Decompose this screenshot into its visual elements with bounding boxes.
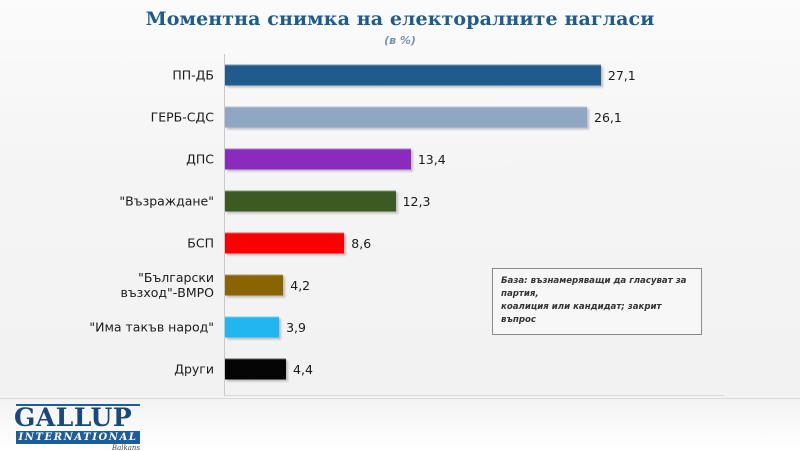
bar-fill bbox=[225, 275, 283, 296]
plot-area: ПП-ДБ27,1ГЕРБ-СДС26,1ДПС13,4"Възраждане"… bbox=[0, 52, 800, 397]
chart-subtitle: (в %) bbox=[0, 34, 800, 47]
bar-row: ГЕРБ-СДС26,1 bbox=[0, 96, 800, 138]
footer-divider bbox=[0, 398, 800, 399]
chart-canvas: Моментна снимка на електоралните нагласи… bbox=[0, 0, 800, 451]
bar-value-label: 12,3 bbox=[403, 194, 431, 209]
bar-category-label: "Има такъв народ" bbox=[34, 320, 214, 335]
bar-category-label: Други bbox=[34, 362, 214, 377]
bar-row: БСП8,6 bbox=[0, 222, 800, 264]
bar-value-label: 4,4 bbox=[293, 362, 313, 377]
logo-international-text: INTERNATIONAL bbox=[16, 431, 140, 444]
bar-row: "Възраждане"12,3 bbox=[0, 180, 800, 222]
bar-category-label: "Български възход"-ВМРО bbox=[34, 270, 214, 300]
base-note-box: База: възнамеряващи да гласуват за парти… bbox=[492, 268, 702, 335]
base-note-line-1: База: възнамеряващи да гласуват за парти… bbox=[501, 275, 693, 301]
bar-row: ПП-ДБ27,1 bbox=[0, 54, 800, 96]
bar-fill bbox=[225, 233, 344, 254]
bar-category-label: ДПС bbox=[34, 152, 214, 167]
bar[interactable]: 27,1 bbox=[225, 65, 601, 86]
logo-region-text: Balkans bbox=[14, 444, 140, 451]
bar-row: ДПС13,4 bbox=[0, 138, 800, 180]
bar-value-label: 8,6 bbox=[351, 236, 371, 251]
value-axis-baseline bbox=[224, 395, 724, 396]
bar-category-label: "Възраждане" bbox=[34, 194, 214, 209]
bar[interactable]: 8,6 bbox=[225, 233, 344, 254]
bar-value-label: 13,4 bbox=[418, 152, 446, 167]
bar[interactable]: 3,9 bbox=[225, 317, 279, 338]
logo-international-bar: INTERNATIONAL bbox=[16, 431, 140, 444]
page-title: Моментна снимка на електоралните нагласи bbox=[0, 8, 800, 30]
logo-wordmark: GALLUP bbox=[14, 404, 132, 432]
bar-fill bbox=[225, 191, 396, 212]
bar-category-label: БСП bbox=[34, 236, 214, 251]
bar-value-label: 26,1 bbox=[594, 110, 622, 125]
bar-fill bbox=[225, 317, 279, 338]
bar-fill bbox=[225, 65, 601, 86]
bar-category-label: ГЕРБ-СДС bbox=[34, 110, 214, 125]
bar[interactable]: 13,4 bbox=[225, 149, 411, 170]
bar-value-label: 27,1 bbox=[608, 68, 636, 83]
bar-value-label: 4,2 bbox=[290, 278, 310, 293]
bar-category-label: ПП-ДБ bbox=[34, 68, 214, 83]
base-note-line-2: коалиция или кандидат; закрит въпрос bbox=[501, 301, 693, 327]
bar-row: Други4,4 bbox=[0, 348, 800, 390]
bar[interactable]: 12,3 bbox=[225, 191, 396, 212]
bar-fill bbox=[225, 107, 587, 128]
gallup-logo: GALLUP INTERNATIONAL Balkans bbox=[14, 402, 149, 447]
bar[interactable]: 4,2 bbox=[225, 275, 283, 296]
bar[interactable]: 26,1 bbox=[225, 107, 587, 128]
bar-fill bbox=[225, 149, 411, 170]
bar[interactable]: 4,4 bbox=[225, 359, 286, 380]
bar-fill bbox=[225, 359, 286, 380]
bar-value-label: 3,9 bbox=[286, 320, 306, 335]
